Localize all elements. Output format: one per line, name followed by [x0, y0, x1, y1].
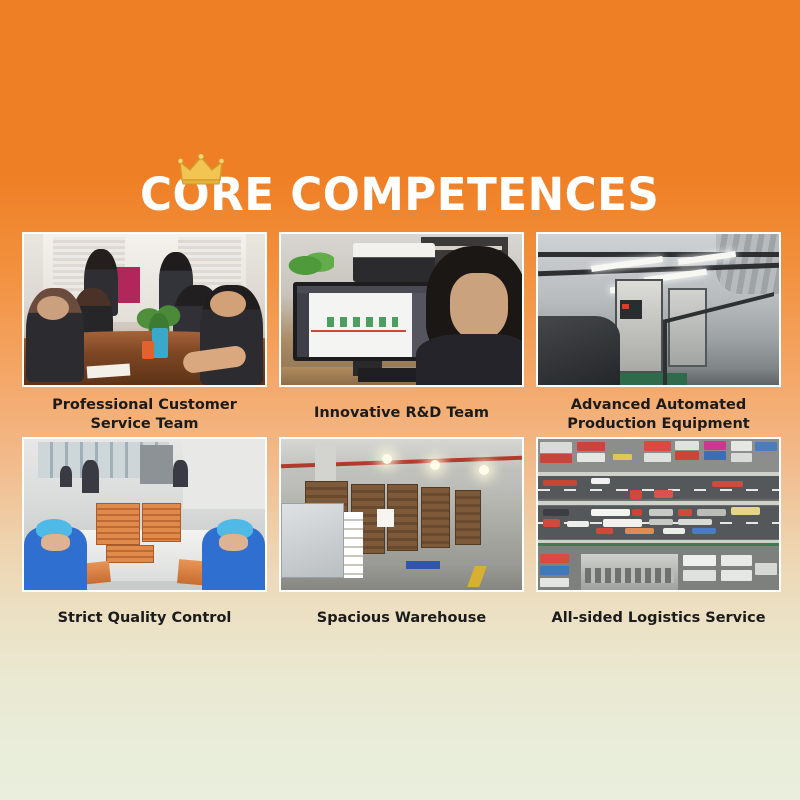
- competence-caption: Strict Quality Control: [22, 592, 267, 636]
- logistics-aerial-scene: [538, 439, 779, 590]
- competence-card-strict-quality-control[interactable]: Strict Quality Control: [22, 433, 267, 636]
- competence-image-strict-quality-control[interactable]: [22, 437, 267, 592]
- competence-image-all-sided-logistics-service[interactable]: [536, 437, 781, 592]
- competence-image-spacious-warehouse[interactable]: [279, 437, 524, 592]
- caption-line: Advanced Automated: [536, 396, 781, 415]
- caption-line: Service Team: [22, 415, 267, 434]
- competence-image-advanced-automated-production-equipment[interactable]: [536, 232, 781, 387]
- competence-card-professional-customer-service-team[interactable]: Professional Customer Service Team: [22, 232, 267, 433]
- caption-line: Production Equipment: [536, 415, 781, 434]
- warehouse-scene: [281, 439, 522, 590]
- caption-line: Spacious Warehouse: [279, 609, 524, 628]
- title-block: CORE COMPETENCES: [0, 150, 800, 217]
- caption-line: All-sided Logistics Service: [536, 609, 781, 628]
- printing-press-scene: [538, 234, 779, 385]
- caption-line: Professional Customer: [22, 396, 267, 415]
- quality-control-scene: [24, 439, 265, 590]
- competence-image-innovative-rd-team[interactable]: [279, 232, 524, 387]
- caption-line: Innovative R&D Team: [279, 404, 524, 423]
- competence-grid: Professional Customer Service Team: [22, 232, 780, 636]
- competence-card-spacious-warehouse[interactable]: Spacious Warehouse: [279, 433, 524, 636]
- competence-caption: Spacious Warehouse: [279, 592, 524, 636]
- competence-card-advanced-automated-production-equipment[interactable]: Advanced Automated Production Equipment: [536, 232, 781, 433]
- competence-card-all-sided-logistics-service[interactable]: All-sided Logistics Service: [536, 433, 781, 636]
- competence-image-professional-customer-service-team[interactable]: [22, 232, 267, 387]
- meeting-room-scene: [24, 234, 265, 385]
- competence-caption: Innovative R&D Team: [279, 387, 524, 431]
- competence-card-innovative-rd-team[interactable]: Innovative R&D Team: [279, 232, 524, 433]
- caption-line: Strict Quality Control: [22, 609, 267, 628]
- competence-caption: Advanced Automated Production Equipment: [536, 387, 781, 433]
- page-title: CORE COMPETENCES: [140, 150, 659, 217]
- competence-caption: Professional Customer Service Team: [22, 387, 267, 433]
- rd-workstation-scene: [281, 234, 522, 385]
- core-competences-page: CORE COMPETENCES Professi: [0, 0, 800, 800]
- competence-caption: All-sided Logistics Service: [536, 592, 781, 636]
